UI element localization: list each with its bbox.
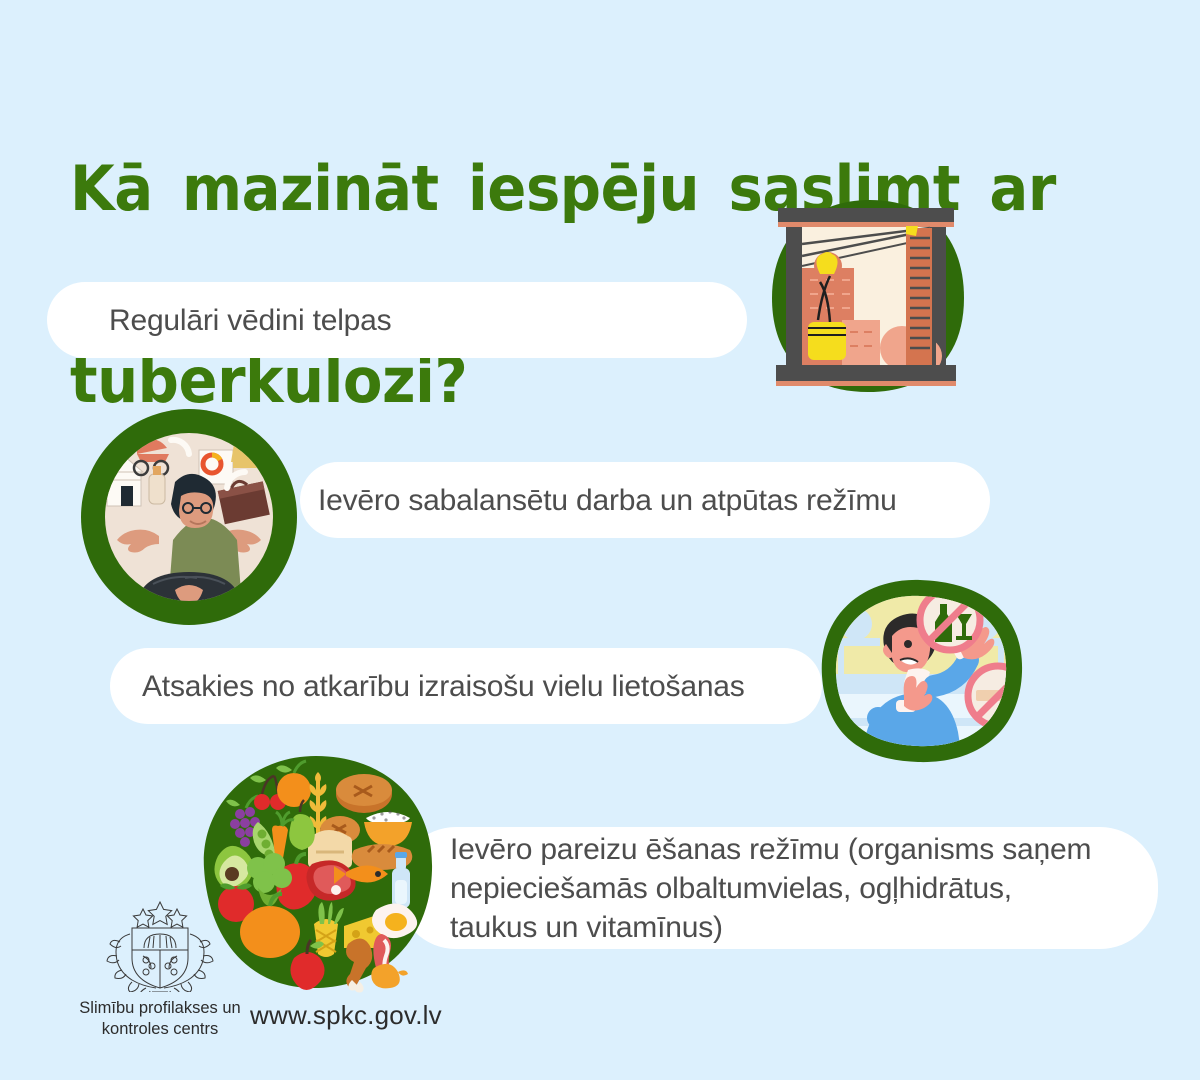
website-url[interactable]: www.spkc.gov.lv: [250, 1000, 442, 1031]
infographic-canvas: Kā mazināt iespēju saslimt ar tuberkuloz…: [0, 0, 1200, 1080]
person-refusing-alcohol-and-smoking-icon: [808, 572, 1032, 768]
tip-banner-healthy-diet: Ievēro pareizu ēšanas režīmu (organisms …: [398, 827, 1158, 949]
tip-text-healthy-diet: Ievēro pareizu ēšanas režīmu (organisms …: [450, 830, 1091, 947]
latvia-coat-of-arms-icon: [96, 898, 224, 992]
tip-text-work-rest-balance: Ievēro sabalansētu darba un atpūtas režī…: [318, 481, 897, 520]
open-window-with-tulip-icon: [752, 180, 980, 406]
tip-banner-ventilate: Regulāri vēdini telpas: [47, 282, 747, 358]
organisation-logo: Slimību profilakses un kontroles centrs: [72, 898, 248, 1040]
meditating-person-icon: [75, 404, 303, 630]
organisation-name: Slimību profilakses un kontroles centrs: [72, 998, 248, 1040]
tip-banner-avoid-addictive-substances: Atsakies no atkarību izraisošu vielu lie…: [110, 648, 822, 724]
tip-text-ventilate: Regulāri vēdini telpas: [109, 301, 391, 340]
tip-text-avoid-addictive-substances: Atsakies no atkarību izraisošu vielu lie…: [142, 667, 745, 706]
tip-banner-work-rest-balance: Ievēro sabalansētu darba un atpūtas režī…: [300, 462, 990, 538]
